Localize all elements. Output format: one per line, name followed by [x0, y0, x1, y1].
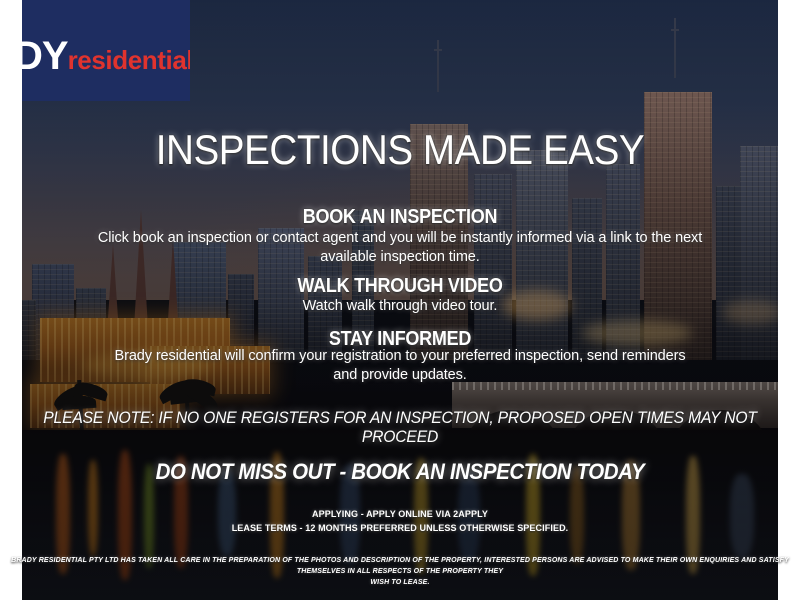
brady-residential-logo[interactable]: DYresidential	[22, 0, 190, 101]
page-title: INSPECTIONS MADE EASY	[32, 126, 768, 174]
section-body-book-an-inspection: Click book an inspection or contact agen…	[0, 229, 800, 267]
logo-mark-text: DY	[22, 34, 68, 78]
legal-disclaimer: BRADY RESIDENTIAL PTY LTD HAS TAKEN ALL …	[0, 555, 800, 588]
fine-print-applying: APPLYING - APPLY ONLINE VIA 2APPLY	[20, 509, 780, 520]
logo-lockup: DYresidential	[22, 36, 190, 76]
please-note-banner: PLEASE NOTE: IF NO ONE REGISTERS FOR AN …	[20, 409, 780, 447]
section-heading-book-an-inspection: BOOK AN INSPECTION	[40, 206, 760, 229]
logo-word-text: residential	[68, 45, 190, 75]
flyer-page: DYresidential INSPECTIONS MADE EASY BOOK…	[0, 0, 800, 600]
section-body-walk-through-video: Watch walk through video tour.	[0, 297, 800, 316]
call-to-action-banner: DO NOT MISS OUT - BOOK AN INSPECTION TOD…	[28, 459, 772, 485]
section-heading-walk-through-video: WALK THROUGH VIDEO	[40, 275, 760, 298]
fine-print-lease-terms: LEASE TERMS - 12 MONTHS PREFERRED UNLESS…	[20, 523, 780, 534]
section-body-stay-informed: Brady residential will confirm your regi…	[0, 347, 800, 385]
